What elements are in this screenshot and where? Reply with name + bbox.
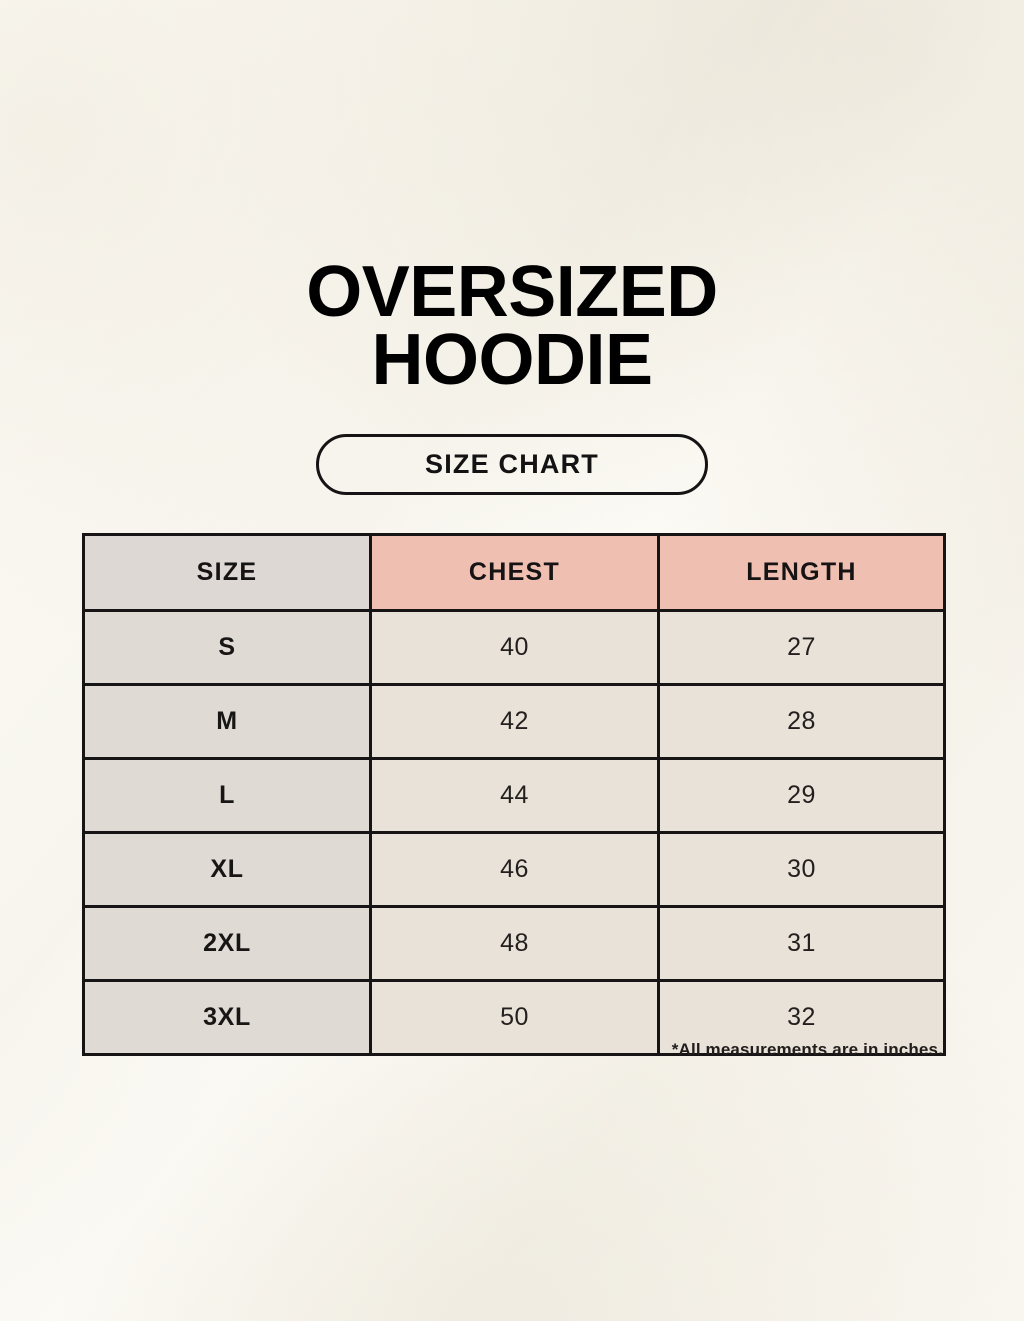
table-row: L 44 29 [84, 759, 945, 833]
cell-chest: 44 [371, 759, 659, 833]
size-chart-badge: SIZE CHART [316, 434, 708, 495]
cell-size: L [84, 759, 371, 833]
cell-size: S [84, 611, 371, 685]
table-row: M 42 28 [84, 685, 945, 759]
cell-chest: 46 [371, 833, 659, 907]
table-header-row: SIZE CHEST LENGTH [84, 535, 945, 611]
cell-size: M [84, 685, 371, 759]
table-row: 2XL 48 31 [84, 907, 945, 981]
column-header-chest: CHEST [371, 535, 659, 611]
cell-length: 28 [659, 685, 945, 759]
cell-chest: 40 [371, 611, 659, 685]
measurement-footnote: *All measurements are in inches. [82, 1040, 943, 1060]
page-title-line-2: HOODIE [0, 326, 1024, 394]
size-chart-table: SIZE CHEST LENGTH S 40 27 M 42 28 L 44 2… [82, 533, 946, 1056]
page-title: OVERSIZED HOODIE [0, 258, 1024, 394]
cell-chest: 48 [371, 907, 659, 981]
cell-size: XL [84, 833, 371, 907]
table-row: XL 46 30 [84, 833, 945, 907]
size-chart-badge-label: SIZE CHART [425, 449, 599, 480]
cell-chest: 42 [371, 685, 659, 759]
cell-length: 29 [659, 759, 945, 833]
size-chart-page: OVERSIZED HOODIE SIZE CHART SIZE CHEST L… [0, 0, 1024, 1321]
cell-length: 30 [659, 833, 945, 907]
page-title-line-1: OVERSIZED [0, 258, 1024, 326]
table-body: S 40 27 M 42 28 L 44 29 XL 46 30 2XL 48 [84, 611, 945, 1055]
cell-size: 2XL [84, 907, 371, 981]
cell-length: 27 [659, 611, 945, 685]
column-header-size: SIZE [84, 535, 371, 611]
table-row: S 40 27 [84, 611, 945, 685]
table-header: SIZE CHEST LENGTH [84, 535, 945, 611]
cell-length: 31 [659, 907, 945, 981]
column-header-length: LENGTH [659, 535, 945, 611]
